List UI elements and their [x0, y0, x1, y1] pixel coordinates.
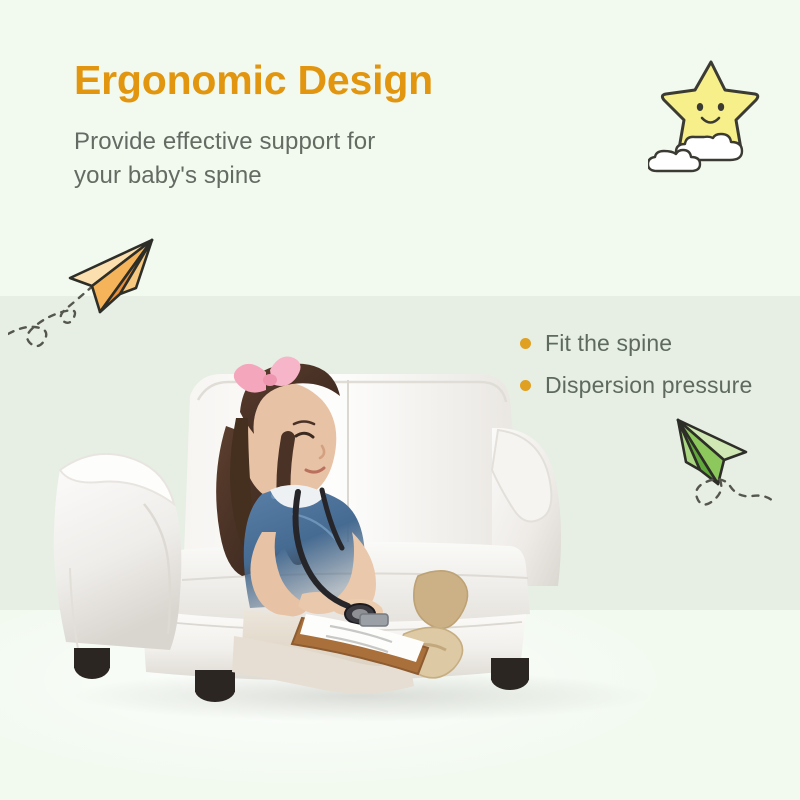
product-banner: Ergonomic Design Provide effective suppo…: [0, 0, 800, 800]
product-photo-kids-sofa: [30, 318, 690, 738]
page-subtitle: Provide effective support for your baby'…: [74, 125, 544, 193]
dashed-trail-icon: [696, 479, 774, 504]
page-title: Ergonomic Design: [74, 58, 544, 103]
sofa-foot: [74, 648, 110, 668]
clipboard-clip: [360, 614, 388, 626]
sofa-foot: [491, 658, 529, 680]
paper-airplane-icon: [70, 240, 152, 312]
sofa-foot: [195, 670, 235, 692]
headline-block: Ergonomic Design Provide effective suppo…: [74, 58, 544, 193]
star-cloud-decoration: [648, 54, 792, 178]
